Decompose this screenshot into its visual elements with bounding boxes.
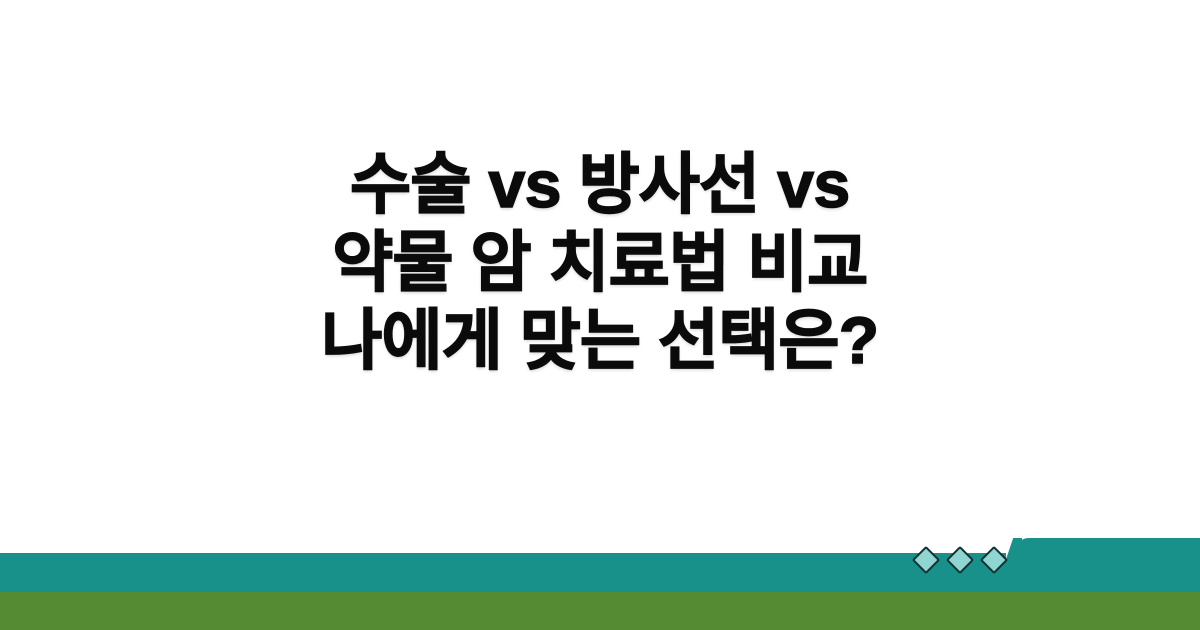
diamond-icon bbox=[946, 546, 974, 574]
title-line-3: 나에게 맞는 선택은? bbox=[321, 301, 878, 379]
title-container: 수술 vs 방사선 vs 약물 암 치료법 비교 나에게 맞는 선택은? bbox=[0, 0, 1200, 553]
footer-decoration bbox=[0, 520, 1200, 630]
title-line-2: 약물 암 치료법 비교 bbox=[321, 223, 878, 301]
title-line-1: 수술 vs 방사선 vs bbox=[321, 145, 878, 223]
page-title: 수술 vs 방사선 vs 약물 암 치료법 비교 나에게 맞는 선택은? bbox=[321, 145, 878, 379]
footer-green-band bbox=[0, 592, 1200, 630]
diamond-icon bbox=[912, 546, 940, 574]
footer-teal-band-left bbox=[0, 553, 1006, 592]
diamond-ornament-group bbox=[916, 548, 1016, 572]
diamond-icon bbox=[980, 546, 1008, 574]
footer-teal-band-right bbox=[1018, 538, 1200, 592]
social-share-card: 수술 vs 방사선 vs 약물 암 치료법 비교 나에게 맞는 선택은? bbox=[0, 0, 1200, 630]
